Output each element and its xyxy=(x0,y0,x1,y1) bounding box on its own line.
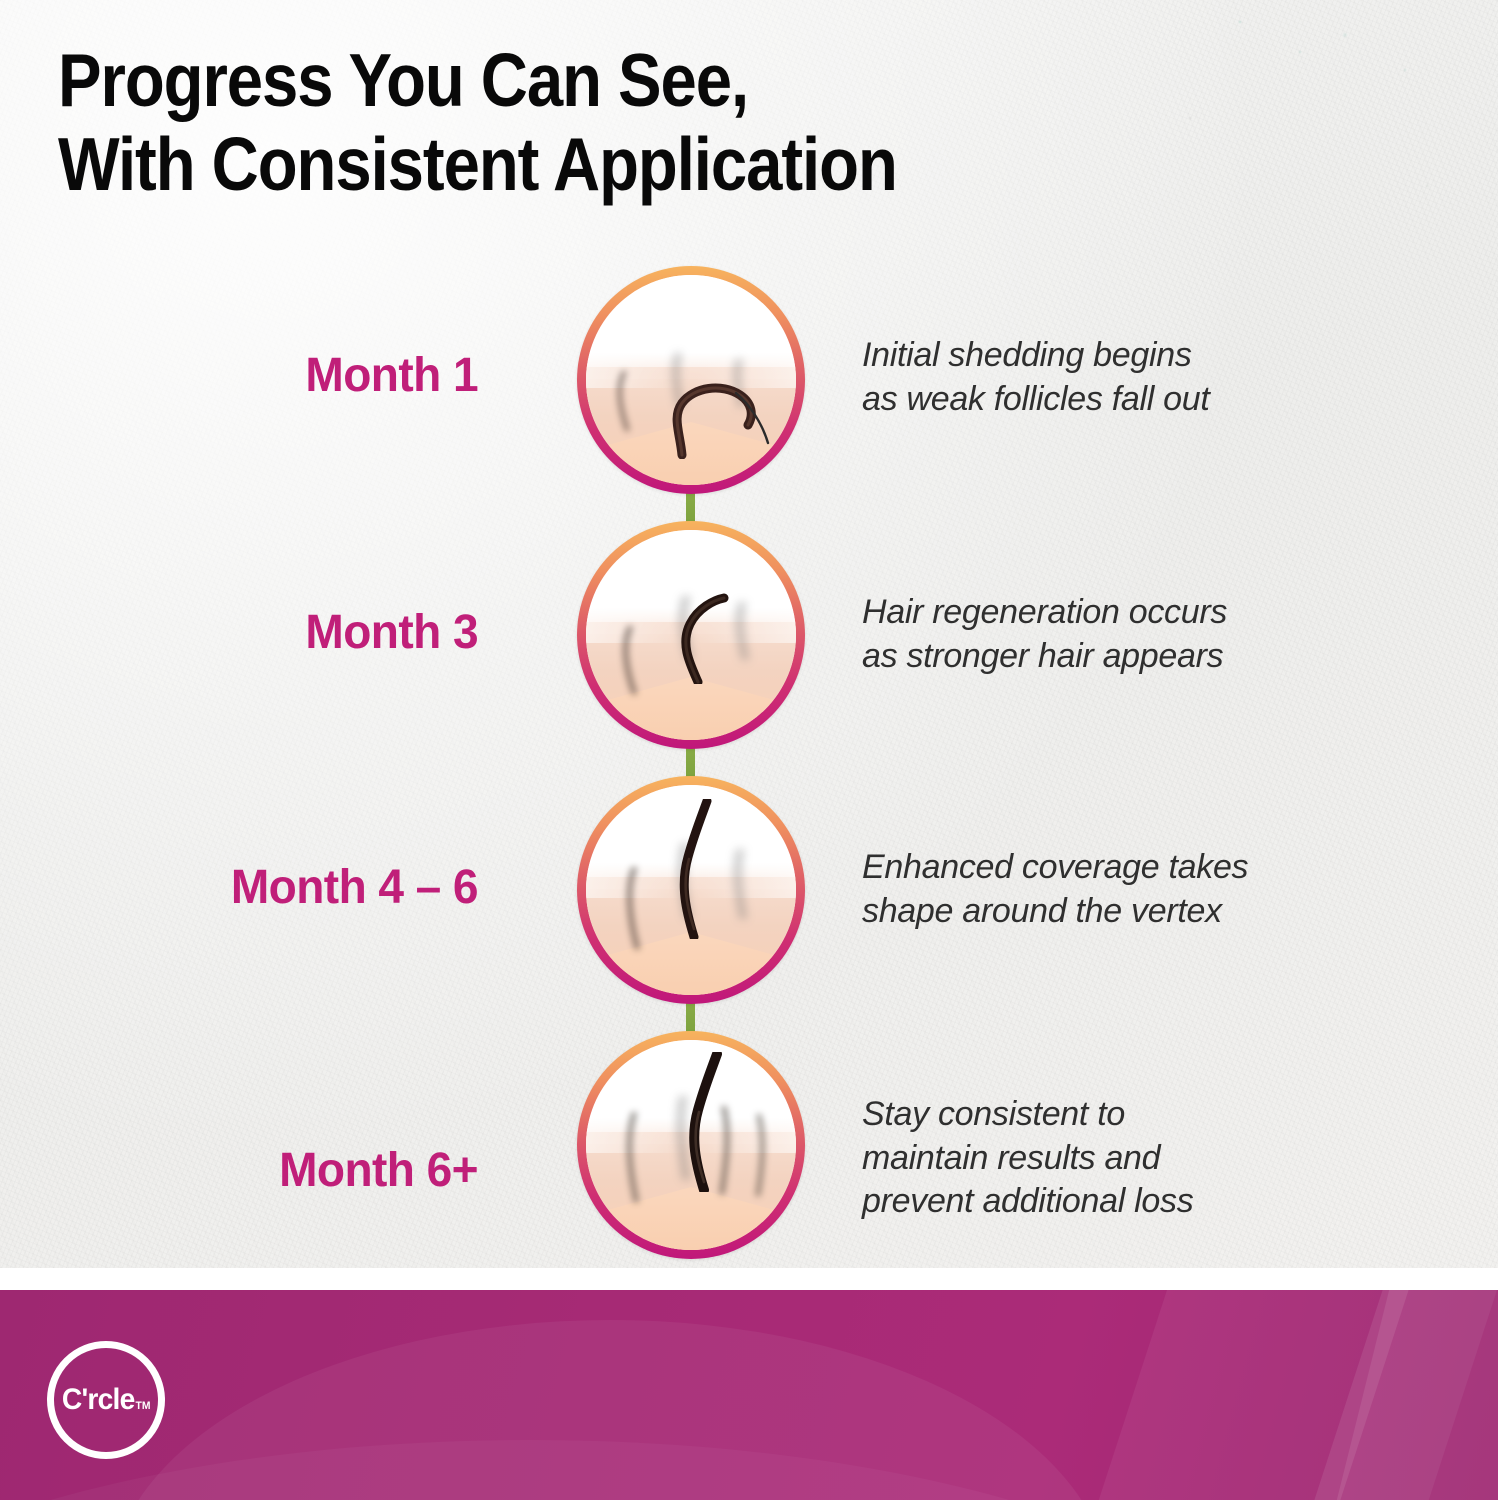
hair-thicker-strand-icon xyxy=(577,776,805,1004)
timeline-step-description: Stay consistent to maintain results and … xyxy=(862,1093,1422,1224)
infographic-poster: Progress You Can See, With Consistent Ap… xyxy=(0,0,1498,1500)
footer-bar xyxy=(0,1290,1498,1500)
timeline-step-description: Enhanced coverage takes shape around the… xyxy=(862,846,1422,933)
hair-regrowth-single-strand-icon xyxy=(577,521,805,749)
brand-logo[interactable]: C'rcleTM xyxy=(47,1341,165,1459)
timeline-step[interactable]: Month 6+ xyxy=(0,1031,1498,1263)
timeline-step-label: Month 6+ xyxy=(36,1143,478,1198)
brand-logo-name: C'rcle xyxy=(62,1383,135,1416)
page-title: Progress You Can See, With Consistent Ap… xyxy=(58,38,1189,206)
timeline-step[interactable]: Month 3 xyxy=(0,521,1498,753)
hair-follicle-shedding-icon xyxy=(577,266,805,494)
timeline-step[interactable]: Month 1 xyxy=(0,266,1498,498)
hair-full-coverage-icon xyxy=(577,1031,805,1259)
timeline-step-label: Month 3 xyxy=(36,605,478,660)
timeline-step-label: Month 4 – 6 xyxy=(36,860,478,915)
brand-logo-text: C'rcleTM xyxy=(62,1385,151,1415)
timeline-step-description: Hair regeneration occurs as stronger hai… xyxy=(862,591,1422,678)
timeline-step-label: Month 1 xyxy=(36,348,478,403)
timeline: Month 1 xyxy=(0,252,1498,1262)
timeline-step-description: Initial shedding begins as weak follicle… xyxy=(862,334,1422,421)
timeline-step[interactable]: Month 4 – 6 xyxy=(0,776,1498,1008)
trademark-symbol: TM xyxy=(135,1400,150,1412)
